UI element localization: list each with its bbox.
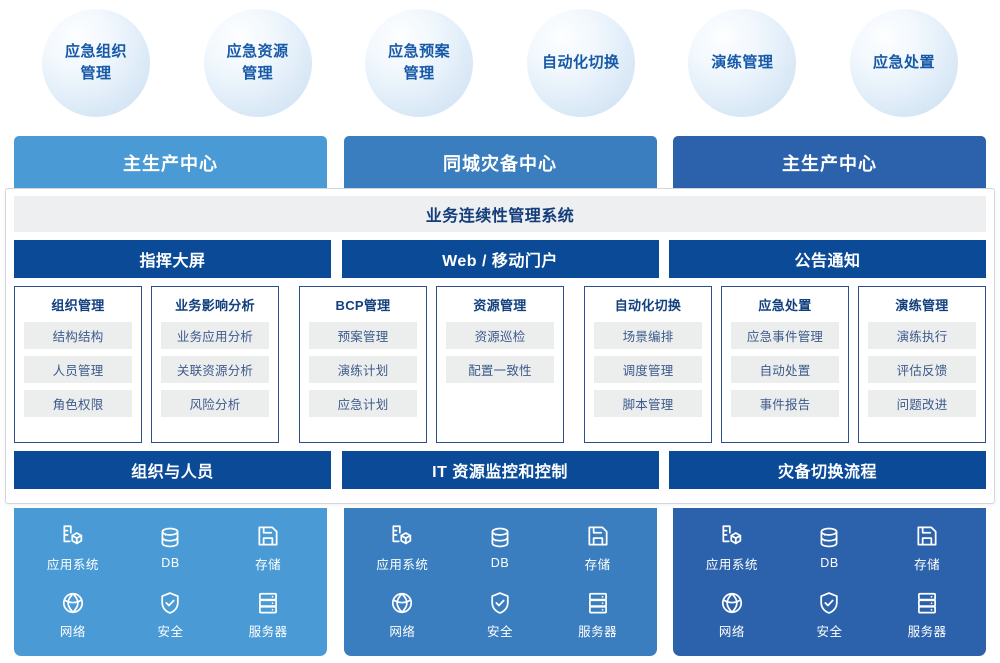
infrastructure-tile[interactable]: 应用系统: [47, 523, 99, 573]
bcm-module-item[interactable]: 演练执行: [868, 322, 976, 349]
application-system-icon: [60, 523, 86, 549]
capability-bubble-label: 演练管理: [703, 52, 781, 74]
bcm-module-card-title: 自动化切换: [594, 295, 702, 314]
infrastructure-tile[interactable]: 应用系统: [376, 523, 428, 573]
capability-bubble-label: 应急处置: [865, 52, 943, 74]
infrastructure-tile[interactable]: 存储: [914, 523, 940, 573]
capability-bubble[interactable]: 演练管理: [688, 9, 796, 117]
bcm-container: 业务连续性管理系统 指挥大屏Web / 移动门户公告通知 组织管理结构结构人员管…: [5, 188, 995, 504]
infrastructure-tile-label: 服务器: [249, 621, 288, 640]
infrastructure-tile-label: 网络: [60, 621, 86, 640]
bcm-card-group: 自动化切换场景编排调度管理脚本管理应急处置应急事件管理自动处置事件报告演练管理演…: [584, 286, 986, 443]
bcm-module-card-title: 业务影响分析: [161, 295, 269, 314]
infrastructure-tile-label: 服务器: [908, 621, 947, 640]
bcm-module-card-title: 资源管理: [446, 295, 554, 314]
bcm-module-card-title: 组织管理: [24, 295, 132, 314]
infrastructure-tile-label: 网络: [389, 621, 415, 640]
bcm-module-item[interactable]: 配置一致性: [446, 356, 554, 383]
network-icon: [719, 590, 745, 616]
bcm-module-item[interactable]: 脚本管理: [594, 390, 702, 417]
infrastructure-tile-label: 安全: [816, 621, 842, 640]
bcm-top-band-row: 指挥大屏Web / 移动门户公告通知: [6, 240, 994, 278]
bcm-band-cell[interactable]: 组织与人员: [14, 451, 331, 489]
infrastructure-tile[interactable]: 存储: [585, 523, 611, 573]
capability-bubble[interactable]: 应急预案管理: [365, 9, 473, 117]
bcm-module-card[interactable]: 组织管理结构结构人员管理角色权限: [14, 286, 142, 443]
capability-bubble-label: 自动化切换: [534, 52, 628, 74]
infrastructure-tile-label: 应用系统: [376, 554, 428, 573]
infrastructure-tile-label: 安全: [157, 621, 183, 640]
bcm-module-card-title: 应急处置: [731, 295, 839, 314]
infrastructure-tile[interactable]: 网络: [719, 590, 745, 640]
bcm-module-item[interactable]: 人员管理: [24, 356, 132, 383]
bcm-module-item[interactable]: 应急事件管理: [731, 322, 839, 349]
infrastructure-tile-label: 存储: [255, 554, 281, 573]
bcm-band-cell[interactable]: 公告通知: [669, 240, 986, 278]
security-icon: [816, 590, 842, 616]
data-center-header[interactable]: 主生产中心: [14, 136, 327, 190]
network-icon: [60, 590, 86, 616]
bcm-module-card-title: BCP管理: [309, 295, 417, 314]
bcm-module-item[interactable]: 角色权限: [24, 390, 132, 417]
bcm-module-item[interactable]: 问题改进: [868, 390, 976, 417]
database-icon: [816, 525, 842, 551]
bcm-module-item[interactable]: 结构结构: [24, 322, 132, 349]
bcm-module-card[interactable]: 应急处置应急事件管理自动处置事件报告: [721, 286, 849, 443]
database-icon: [487, 525, 513, 551]
bcm-module-card[interactable]: 演练管理演练执行评估反馈问题改进: [858, 286, 986, 443]
bcm-module-card[interactable]: 业务影响分析业务应用分析关联资源分析风险分析: [151, 286, 279, 443]
bcm-module-item[interactable]: 调度管理: [594, 356, 702, 383]
infrastructure-tile-label: 应用系统: [706, 554, 758, 573]
bcm-module-card[interactable]: 资源管理资源巡检配置一致性: [436, 286, 564, 443]
bcm-module-card[interactable]: 自动化切换场景编排调度管理脚本管理: [584, 286, 712, 443]
security-icon: [157, 590, 183, 616]
infrastructure-tile-label: DB: [161, 556, 179, 570]
bcm-module-item[interactable]: 评估反馈: [868, 356, 976, 383]
bcm-band-cell[interactable]: 灾备切换流程: [669, 451, 986, 489]
bcm-module-item[interactable]: 演练计划: [309, 356, 417, 383]
data-center-header-row: 主生产中心同城灾备中心主生产中心: [0, 136, 1000, 192]
bcm-module-card-title: 演练管理: [868, 295, 976, 314]
infrastructure-tile[interactable]: DB: [157, 525, 183, 570]
infrastructure-tile[interactable]: 网络: [60, 590, 86, 640]
bcm-module-card[interactable]: BCP管理预案管理演练计划应急计划: [299, 286, 427, 443]
infrastructure-panel: 应用系统DB存储网络安全服务器: [14, 508, 327, 656]
bcm-module-item[interactable]: 应急计划: [309, 390, 417, 417]
bcm-module-item[interactable]: 资源巡检: [446, 322, 554, 349]
application-system-icon: [719, 523, 745, 549]
infrastructure-tile[interactable]: 安全: [816, 590, 842, 640]
bcm-band-cell[interactable]: 指挥大屏: [14, 240, 331, 278]
capability-bubble-label: 应急资源管理: [219, 41, 297, 85]
infrastructure-tile[interactable]: 服务器: [249, 590, 288, 640]
bcm-module-item[interactable]: 业务应用分析: [161, 322, 269, 349]
infrastructure-tile[interactable]: 存储: [255, 523, 281, 573]
infrastructure-tile-label: 存储: [585, 554, 611, 573]
bcm-band-cell[interactable]: Web / 移动门户: [342, 240, 659, 278]
server-icon: [585, 590, 611, 616]
capability-bubble-label: 应急组织管理: [57, 41, 135, 85]
infrastructure-tile[interactable]: 网络: [389, 590, 415, 640]
data-center-header[interactable]: 主生产中心: [673, 136, 986, 190]
infrastructure-tile-label: 存储: [914, 554, 940, 573]
infrastructure-tile-label: 服务器: [578, 621, 617, 640]
bcm-system-title: 业务连续性管理系统: [14, 196, 986, 232]
bcm-module-item[interactable]: 关联资源分析: [161, 356, 269, 383]
bcm-card-group: BCP管理预案管理演练计划应急计划资源管理资源巡检配置一致性: [299, 286, 564, 443]
bcm-module-item[interactable]: 场景编排: [594, 322, 702, 349]
storage-icon: [585, 523, 611, 549]
capability-bubble[interactable]: 应急组织管理: [42, 9, 150, 117]
infrastructure-panel: 应用系统DB存储网络安全服务器: [673, 508, 986, 656]
infrastructure-panel-row: 应用系统DB存储网络安全服务器应用系统DB存储网络安全服务器应用系统DB存储网络…: [0, 508, 1000, 660]
capability-bubble[interactable]: 应急处置: [850, 9, 958, 117]
server-icon: [914, 590, 940, 616]
storage-icon: [255, 523, 281, 549]
infrastructure-tile[interactable]: DB: [487, 525, 513, 570]
bcm-module-item[interactable]: 事件报告: [731, 390, 839, 417]
capability-bubble[interactable]: 应急资源管理: [204, 9, 312, 117]
infrastructure-tile[interactable]: 安全: [157, 590, 183, 640]
bcm-module-item[interactable]: 预案管理: [309, 322, 417, 349]
infrastructure-tile[interactable]: 服务器: [578, 590, 617, 640]
database-icon: [157, 525, 183, 551]
bcm-module-item[interactable]: 风险分析: [161, 390, 269, 417]
capability-bubble[interactable]: 自动化切换: [527, 9, 635, 117]
infrastructure-tile[interactable]: 安全: [487, 590, 513, 640]
infrastructure-tile-label: DB: [820, 556, 838, 570]
infrastructure-tile[interactable]: 应用系统: [706, 523, 758, 573]
bcm-band-cell[interactable]: IT 资源监控和控制: [342, 451, 659, 489]
infrastructure-tile-label: 网络: [719, 621, 745, 640]
storage-icon: [914, 523, 940, 549]
capability-bubble-label: 应急预案管理: [380, 41, 458, 85]
bcm-card-group: 组织管理结构结构人员管理角色权限业务影响分析业务应用分析关联资源分析风险分析: [14, 286, 279, 443]
infrastructure-tile[interactable]: DB: [816, 525, 842, 570]
infrastructure-tile[interactable]: 服务器: [908, 590, 947, 640]
infrastructure-tile-label: 安全: [487, 621, 513, 640]
application-system-icon: [389, 523, 415, 549]
server-icon: [255, 590, 281, 616]
security-icon: [487, 590, 513, 616]
bcm-card-row: 组织管理结构结构人员管理角色权限业务影响分析业务应用分析关联资源分析风险分析BC…: [6, 286, 994, 443]
bcm-bottom-band-row: 组织与人员IT 资源监控和控制灾备切换流程: [6, 451, 994, 489]
infrastructure-tile-label: 应用系统: [47, 554, 99, 573]
infrastructure-tile-label: DB: [491, 556, 509, 570]
infrastructure-panel: 应用系统DB存储网络安全服务器: [344, 508, 657, 656]
bcm-module-item[interactable]: 自动处置: [731, 356, 839, 383]
capability-bubble-row: 应急组织管理应急资源管理应急预案管理自动化切换演练管理应急处置: [0, 0, 1000, 125]
data-center-header[interactable]: 同城灾备中心: [344, 136, 657, 190]
network-icon: [389, 590, 415, 616]
